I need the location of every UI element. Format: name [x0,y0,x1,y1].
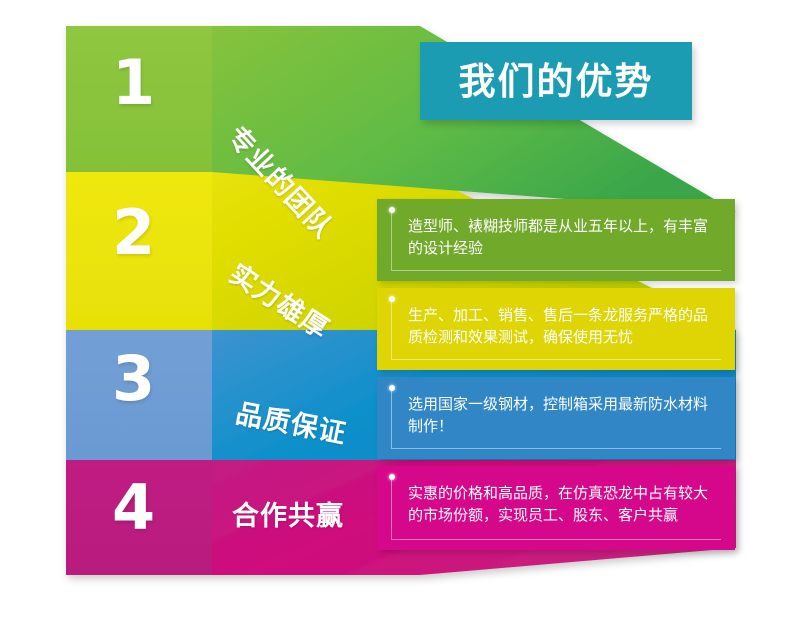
bullet-dot-icon [389,474,395,480]
card-border-3: 选用国家一级钢材，控制箱采用最新防水材料制作！ [391,388,721,449]
description-card-1: 造型师、裱糊技师都是从业五年以上，有丰富的设计经验 [377,199,735,281]
page-title: 我们的优势 [459,63,654,100]
description-card-2: 生产、加工、销售、售后一条龙服务严格的品质检测和效果测试，确保使用无忧 [377,288,735,370]
description-text-3: 选用国家一级钢材，控制箱采用最新防水材料制作！ [408,394,715,438]
card-border-2: 生产、加工、销售、售后一条龙服务严格的品质检测和效果测试，确保使用无忧 [391,299,721,360]
description-text-4: 实惠的价格和高品质，在仿真恐龙中占有较大的市场份额，实现员工、股东、客户共赢 [408,483,715,527]
page-title-banner: 我们的优势 [420,42,692,120]
bullet-dot-icon [389,296,395,302]
description-card-4: 实惠的价格和高品质，在仿真恐龙中占有较大的市场份额，实现员工、股东、客户共赢 [377,466,735,550]
step-number-1: 1 [112,52,155,114]
bullet-dot-icon [389,207,395,213]
step-number-2: 2 [112,202,155,264]
card-border-1: 造型师、裱糊技师都是从业五年以上，有丰富的设计经验 [391,210,721,271]
card-border-4: 实惠的价格和高品质，在仿真恐龙中占有较大的市场份额，实现员工、股东、客户共赢 [391,477,721,540]
description-text-1: 造型师、裱糊技师都是从业五年以上，有丰富的设计经验 [408,216,715,260]
infographic-canvas: 我们的优势 1 2 3 4 专业的团队 实力雄厚 品质保证 合作共赢 造型师、裱… [0,0,800,622]
description-text-2: 生产、加工、销售、售后一条龙服务严格的品质检测和效果测试，确保使用无忧 [408,305,715,349]
bullet-dot-icon [389,385,395,391]
description-card-3: 选用国家一级钢材，控制箱采用最新防水材料制作！ [377,377,735,459]
step-number-4: 4 [112,477,155,539]
step-number-3: 3 [112,348,155,410]
step-caption-4: 合作共赢 [232,503,344,530]
